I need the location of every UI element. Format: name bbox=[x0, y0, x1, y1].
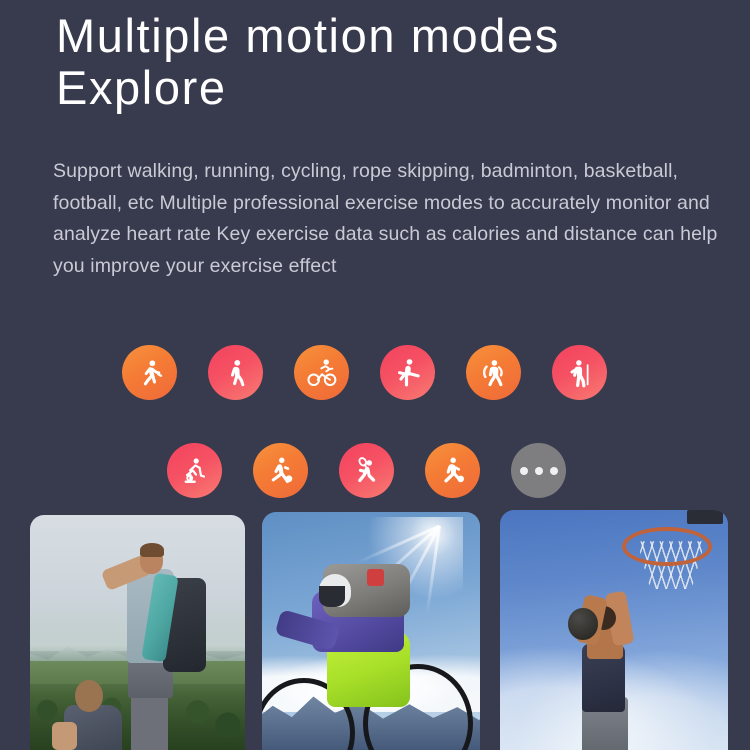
activity-icons-row-1 bbox=[122, 345, 607, 400]
walking-icon bbox=[221, 358, 251, 388]
activity-button-football[interactable] bbox=[253, 443, 308, 498]
activity-button-yoga[interactable] bbox=[380, 345, 435, 400]
basketball-icon bbox=[437, 455, 469, 487]
activity-button-hiking[interactable] bbox=[552, 345, 607, 400]
basketball-hoop bbox=[622, 527, 712, 566]
photo-basketball[interactable] bbox=[500, 510, 728, 750]
yoga-icon bbox=[392, 357, 424, 389]
photo-strip bbox=[0, 498, 750, 750]
activity-button-basketball[interactable] bbox=[425, 443, 480, 498]
activity-button-running[interactable] bbox=[122, 345, 177, 400]
helmet-shadow bbox=[319, 586, 345, 607]
cycling-icon bbox=[306, 357, 338, 389]
basketball bbox=[568, 608, 598, 639]
badminton-icon bbox=[351, 455, 383, 487]
standing-hiker-hair bbox=[140, 543, 165, 557]
hiking-icon bbox=[565, 358, 595, 388]
spinning-bike-icon bbox=[179, 455, 211, 487]
seated-hiker-head bbox=[75, 680, 103, 713]
more-activities-button[interactable] bbox=[511, 443, 566, 498]
seated-hiker-arm bbox=[52, 722, 78, 750]
activity-button-walking[interactable] bbox=[208, 345, 263, 400]
promo-page: Multiple motion modes Explore Support wa… bbox=[0, 0, 750, 750]
backpack-detail bbox=[367, 569, 384, 586]
activity-button-rope-skipping[interactable] bbox=[466, 345, 521, 400]
description-text: Support walking, running, cycling, rope … bbox=[53, 156, 725, 282]
activity-button-badminton[interactable] bbox=[339, 443, 394, 498]
football-icon bbox=[265, 455, 297, 487]
photo-cycling[interactable] bbox=[262, 512, 480, 750]
photo-hiking[interactable] bbox=[30, 515, 245, 750]
activity-button-cycling[interactable] bbox=[294, 345, 349, 400]
running-icon bbox=[135, 358, 165, 388]
more-icon bbox=[520, 467, 558, 475]
backboard bbox=[687, 510, 723, 524]
activity-icons-row-2 bbox=[167, 443, 566, 498]
page-title: Multiple motion modes Explore bbox=[56, 10, 716, 114]
activity-button-spinning[interactable] bbox=[167, 443, 222, 498]
rope-skipping-icon bbox=[479, 358, 509, 388]
